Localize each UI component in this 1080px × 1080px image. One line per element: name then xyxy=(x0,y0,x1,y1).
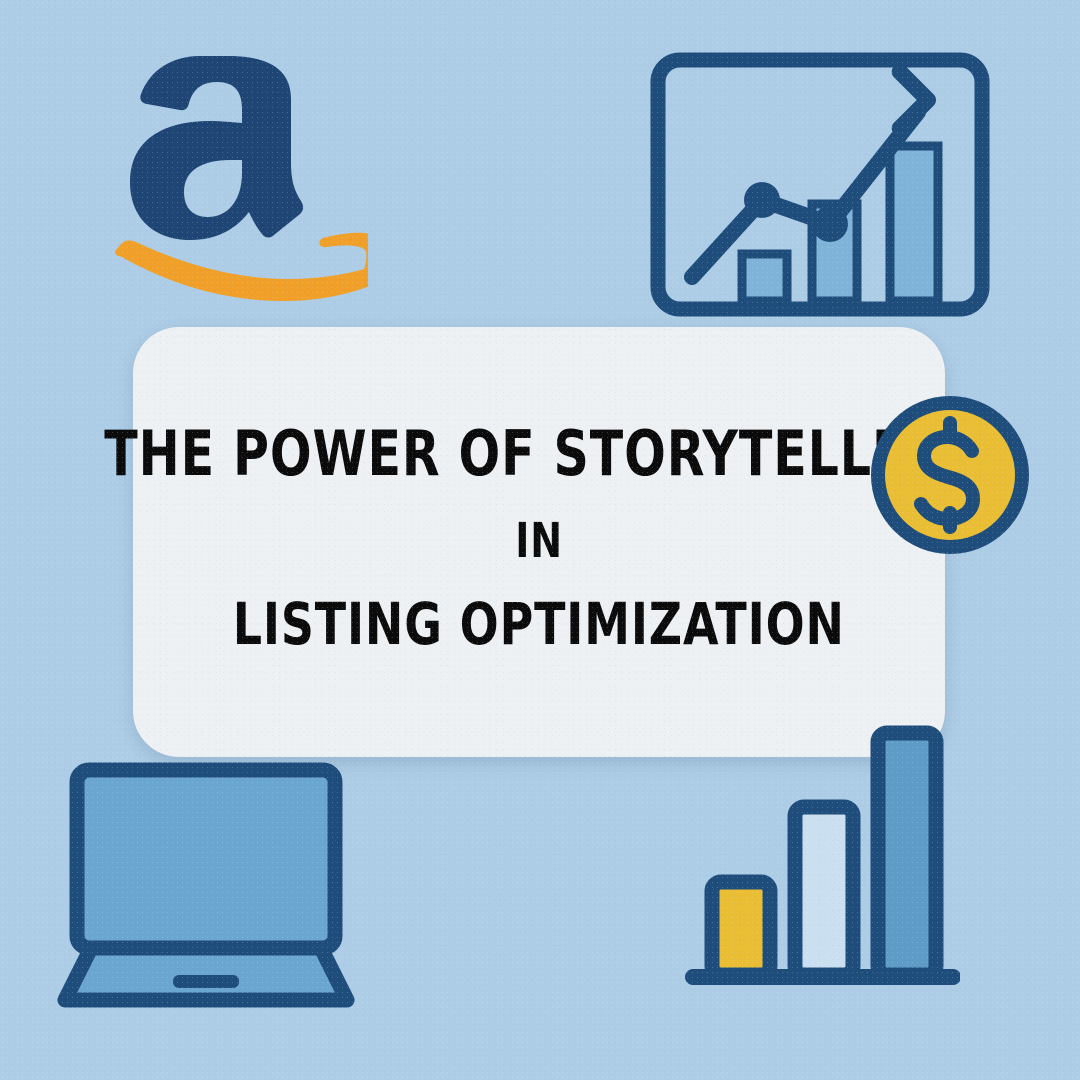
amazon-swoosh-icon xyxy=(115,233,368,301)
trend-point-1 xyxy=(744,182,780,218)
page-title-line-1: The Power of Storytelling xyxy=(104,423,974,485)
bar-chart-svg xyxy=(685,715,960,990)
bar-chart-bar-2 xyxy=(795,807,853,975)
page-title-line-2: in xyxy=(515,517,563,565)
dollar-coin-icon xyxy=(868,393,1032,557)
dollar-coin-svg xyxy=(868,393,1032,557)
laptop-screen xyxy=(77,770,335,948)
bar-chart-icon xyxy=(685,715,960,990)
amazon-logo-icon xyxy=(108,52,368,302)
title-card: The Power of Storytelling in Listing Opt… xyxy=(133,327,945,757)
chart-bar-3 xyxy=(890,146,938,301)
laptop-icon xyxy=(55,762,385,1022)
laptop-base xyxy=(65,948,347,1000)
bar-chart-bar-3 xyxy=(878,733,936,975)
growth-chart-icon xyxy=(650,52,990,317)
amazon-letter-a xyxy=(130,56,303,240)
trend-polyline xyxy=(692,112,918,277)
laptop-trackpad xyxy=(173,975,239,988)
trend-arrow-head xyxy=(871,72,928,129)
growth-chart-svg xyxy=(650,52,990,317)
bar-chart-bar-1 xyxy=(712,882,770,975)
chart-bar-1 xyxy=(742,254,787,301)
page-title-line-3: Listing Optimization xyxy=(233,595,845,653)
trend-point-2 xyxy=(812,206,848,242)
laptop-svg xyxy=(55,762,385,1022)
amazon-logo-svg xyxy=(108,52,368,302)
poster-canvas: The Power of Storytelling in Listing Opt… xyxy=(0,0,1080,1080)
